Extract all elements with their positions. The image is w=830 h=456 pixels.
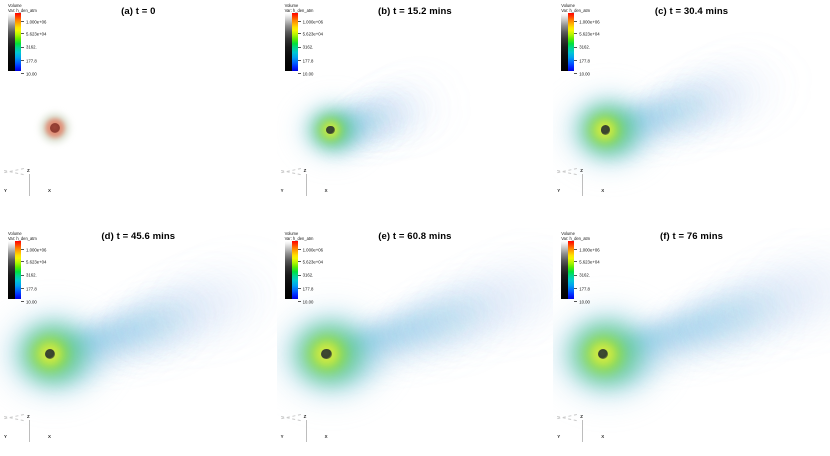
colorbar-body: 1.000e+065.623e+043162.177.810.00 <box>285 241 349 299</box>
panel-d[interactable]: VolumeVar: h_den_atm1.000e+065.623e+0431… <box>0 228 277 456</box>
colorbar-tick-mark <box>574 288 577 289</box>
colorbar: VolumeVar: h_den_atm1.000e+065.623e+0431… <box>561 232 625 302</box>
colorbar-tick-mark <box>298 249 301 250</box>
colorbar-tick-label: 5.623e+04 <box>579 259 599 264</box>
axis-line-z <box>29 174 30 196</box>
colorbar-opacity-ramp <box>561 241 568 299</box>
axis-line-z <box>582 174 583 196</box>
colorbar-tick-mark <box>574 275 577 276</box>
axis-line-z <box>29 420 30 442</box>
colorbar-body: 1.000e+065.623e+043162.177.810.00 <box>285 13 349 71</box>
axis-label-x: X <box>325 188 328 193</box>
plume-core <box>45 349 55 359</box>
colorbar-tick-label: 177.8 <box>303 286 314 291</box>
colorbar-tick-label: 1.000e+06 <box>26 247 46 252</box>
axis-label-y: Y <box>281 188 284 193</box>
colorbar-tick-mark <box>21 288 24 289</box>
colorbar-tick-mark <box>298 21 301 22</box>
colorbar-tick-mark <box>574 301 577 302</box>
colorbar-tick-label: 177.8 <box>26 58 37 63</box>
colorbar-tick-mark <box>574 60 577 61</box>
colorbar-tick-label: 177.8 <box>26 286 37 291</box>
panel-title-d: (d) t = 45.6 mins <box>0 231 277 242</box>
colorbar: VolumeVar: h_den_atm1.000e+065.623e+0431… <box>285 232 349 302</box>
colorbar-opacity-ramp <box>285 241 292 299</box>
colorbar-tick-label: 10.00 <box>579 299 590 304</box>
colorbar-tick: 5.623e+04 <box>21 25 46 31</box>
colorbar-tick: 5.623e+04 <box>574 253 599 259</box>
axes-triad: ZYX <box>557 414 609 448</box>
axis-label-y: Y <box>4 188 7 193</box>
colorbar-tick-label: 10.00 <box>579 71 590 76</box>
colorbar-tick-mark <box>298 275 301 276</box>
figure-volume-rendering-time-series: VolumeVar: h_den_atm1.000e+065.623e+0431… <box>0 0 830 456</box>
colorbar-tick-label: 1.000e+06 <box>579 247 599 252</box>
axis-label-y: Y <box>281 434 284 439</box>
colorbar-tick-mark <box>21 47 24 48</box>
colorbar-tick: 177.8 <box>574 280 590 286</box>
colorbar: VolumeVar: h_den_atm1.000e+065.623e+0431… <box>8 232 72 302</box>
colorbar-tick-label: 1.000e+06 <box>579 19 599 24</box>
colorbar-tick: 5.623e+04 <box>21 253 46 259</box>
axis-label-y: Y <box>557 434 560 439</box>
colorbar-tick-mark <box>21 249 24 250</box>
colorbar-body: 1.000e+065.623e+043162.177.810.00 <box>8 241 72 299</box>
colorbar-tick-label: 10.00 <box>26 299 37 304</box>
plume-core <box>326 126 334 134</box>
panel-b[interactable]: VolumeVar: h_den_atm1.000e+065.623e+0431… <box>277 0 554 228</box>
colorbar-tick: 177.8 <box>298 52 314 58</box>
colorbar-tick-mark <box>574 73 577 74</box>
colorbar-tick-label: 5.623e+04 <box>303 31 323 36</box>
panel-title-b: (b) t = 15.2 mins <box>277 6 554 17</box>
axis-label-z: Z <box>580 168 583 173</box>
axis-label-z: Z <box>27 168 30 173</box>
colorbar-tick-labels: 1.000e+065.623e+043162.177.810.00 <box>574 13 625 71</box>
axis-label-x: X <box>48 434 51 439</box>
colorbar-tick-label: 3162. <box>26 273 37 278</box>
colorbar-tick-label: 177.8 <box>579 58 590 63</box>
axis-label-z: Z <box>27 414 30 419</box>
axis-line-z <box>582 420 583 442</box>
colorbar-tick-label: 177.8 <box>579 286 590 291</box>
axes-triad: ZYX <box>281 168 333 202</box>
colorbar-tick-label: 3162. <box>26 45 37 50</box>
colorbar-tick: 10.00 <box>21 65 37 71</box>
colorbar-tick-mark <box>298 73 301 74</box>
colorbar-body: 1.000e+065.623e+043162.177.810.00 <box>561 241 625 299</box>
colorbar-tick-label: 1.000e+06 <box>303 19 323 24</box>
colorbar-body: 1.000e+065.623e+043162.177.810.00 <box>561 13 625 71</box>
colorbar-tick-mark <box>298 261 301 262</box>
axis-label-x: X <box>48 188 51 193</box>
colorbar-body: 1.000e+065.623e+043162.177.810.00 <box>8 13 72 71</box>
colorbar-tick-label: 5.623e+04 <box>303 259 323 264</box>
colorbar-opacity-ramp <box>285 13 292 71</box>
colorbar-tick-label: 10.00 <box>26 71 37 76</box>
colorbar-tick: 177.8 <box>298 280 314 286</box>
colorbar-tick-labels: 1.000e+065.623e+043162.177.810.00 <box>574 241 625 299</box>
colorbar-tick-label: 5.623e+04 <box>26 31 46 36</box>
colorbar-tick-label: 1.000e+06 <box>26 19 46 24</box>
colorbar-tick: 10.00 <box>298 65 314 71</box>
colorbar-tick-mark <box>298 60 301 61</box>
panel-title-a: (a) t = 0 <box>0 6 277 17</box>
colorbar-tick: 5.623e+04 <box>298 253 323 259</box>
colorbar-tick-label: 3162. <box>579 273 590 278</box>
colorbar-opacity-ramp <box>561 13 568 71</box>
colorbar-tick: 177.8 <box>21 280 37 286</box>
colorbar-tick-label: 3162. <box>303 45 314 50</box>
colorbar-tick-mark <box>574 47 577 48</box>
colorbar-tick-label: 10.00 <box>303 71 314 76</box>
plume-core <box>50 123 60 133</box>
colorbar-tick-label: 3162. <box>303 273 314 278</box>
colorbar-opacity-ramp <box>8 241 15 299</box>
colorbar-tick-label: 5.623e+04 <box>579 31 599 36</box>
axis-label-z: Z <box>304 168 307 173</box>
colorbar-tick-label: 177.8 <box>303 58 314 63</box>
colorbar-tick-labels: 1.000e+065.623e+043162.177.810.00 <box>21 241 72 299</box>
colorbar-tick-label: 1.000e+06 <box>303 247 323 252</box>
colorbar-tick: 3162. <box>574 266 590 272</box>
axes-triad: ZYX <box>4 414 56 448</box>
colorbar-tick: 10.00 <box>574 293 590 299</box>
colorbar-tick-labels: 1.000e+065.623e+043162.177.810.00 <box>298 13 349 71</box>
axes-triad: ZYX <box>281 414 333 448</box>
colorbar-tick-mark <box>298 288 301 289</box>
colorbar-tick-label: 3162. <box>579 45 590 50</box>
colorbar-tick-mark <box>21 275 24 276</box>
colorbar-tick-mark <box>21 261 24 262</box>
colorbar-tick-mark <box>298 47 301 48</box>
colorbar-tick-mark <box>574 33 577 34</box>
panel-a[interactable]: VolumeVar: h_den_atm1.000e+065.623e+0431… <box>0 0 277 228</box>
panel-title-e: (e) t = 60.8 mins <box>277 231 554 242</box>
axis-label-x: X <box>325 434 328 439</box>
colorbar-tick: 3162. <box>298 266 314 272</box>
panel-title-c: (c) t = 30.4 mins <box>553 6 830 17</box>
colorbar-tick: 5.623e+04 <box>298 25 323 31</box>
colorbar-tick-mark <box>298 33 301 34</box>
plume-core <box>601 125 610 134</box>
colorbar-tick: 5.623e+04 <box>574 25 599 31</box>
colorbar-tick-mark <box>21 33 24 34</box>
colorbar-tick: 3162. <box>21 38 37 44</box>
colorbar-tick-mark <box>21 21 24 22</box>
colorbar-tick: 3162. <box>298 38 314 44</box>
panel-f[interactable]: VolumeVar: h_den_atm1.000e+065.623e+0431… <box>553 228 830 456</box>
axis-label-x: X <box>601 188 604 193</box>
colorbar-tick-label: 10.00 <box>303 299 314 304</box>
colorbar-tick-mark <box>21 60 24 61</box>
colorbar-tick-mark <box>21 301 24 302</box>
colorbar-tick-mark <box>574 249 577 250</box>
axis-label-x: X <box>601 434 604 439</box>
axes-triad: ZYX <box>557 168 609 202</box>
plume-core <box>321 349 331 359</box>
colorbar-tick-mark <box>574 21 577 22</box>
colorbar-tick-mark <box>21 73 24 74</box>
panel-title-f: (f) t = 76 mins <box>553 231 830 242</box>
panel-e[interactable]: VolumeVar: h_den_atm1.000e+065.623e+0431… <box>277 228 554 456</box>
axis-label-z: Z <box>580 414 583 419</box>
colorbar-tick: 10.00 <box>574 65 590 71</box>
axis-line-z <box>306 174 307 196</box>
panel-c[interactable]: VolumeVar: h_den_atm1.000e+065.623e+0431… <box>553 0 830 228</box>
axis-label-y: Y <box>557 188 560 193</box>
colorbar-tick-label: 5.623e+04 <box>26 259 46 264</box>
colorbar-tick: 177.8 <box>21 52 37 58</box>
colorbar-tick: 10.00 <box>21 293 37 299</box>
axis-line-z <box>306 420 307 442</box>
colorbar-tick: 3162. <box>21 266 37 272</box>
colorbar-tick-mark <box>298 301 301 302</box>
colorbar-tick: 3162. <box>574 38 590 44</box>
axes-triad: ZYX <box>4 168 56 202</box>
colorbar-tick: 10.00 <box>298 293 314 299</box>
colorbar-tick: 177.8 <box>574 52 590 58</box>
colorbar-tick-labels: 1.000e+065.623e+043162.177.810.00 <box>298 241 349 299</box>
axis-label-y: Y <box>4 434 7 439</box>
colorbar-opacity-ramp <box>8 13 15 71</box>
axis-label-z: Z <box>304 414 307 419</box>
colorbar-tick-labels: 1.000e+065.623e+043162.177.810.00 <box>21 13 72 71</box>
colorbar-tick-mark <box>574 261 577 262</box>
